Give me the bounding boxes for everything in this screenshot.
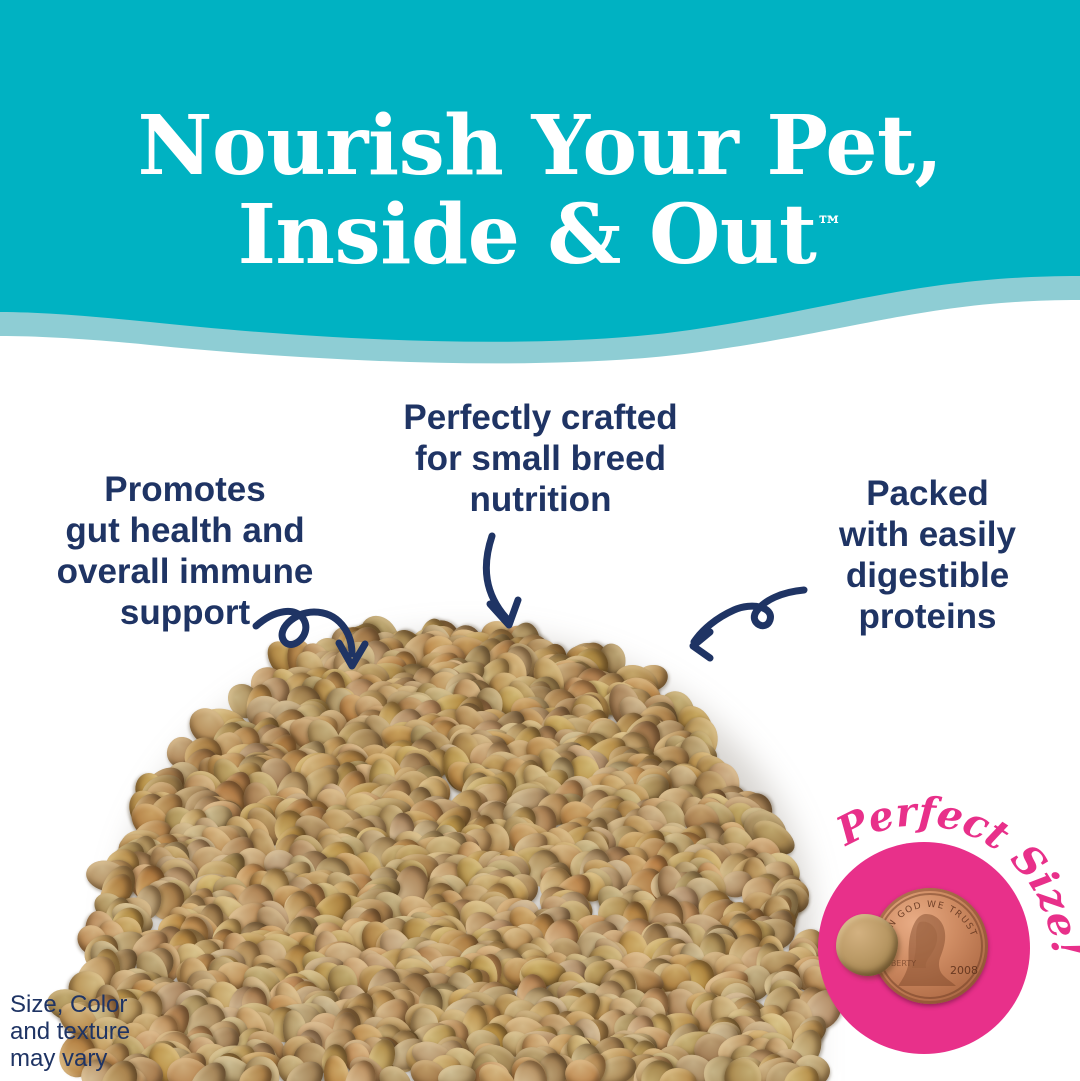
callout-right-line-1: Packed bbox=[790, 474, 1065, 515]
callout-right-line-4: proteins bbox=[790, 597, 1065, 638]
disclaimer-line-2: and texture bbox=[10, 1019, 190, 1046]
callout-mid-line-1: Perfectly crafted bbox=[368, 398, 713, 439]
callout-left-line-4: support bbox=[10, 593, 360, 634]
header-banner bbox=[0, 0, 1080, 372]
disclaimer-text: Size, Color and texture may vary bbox=[10, 992, 190, 1073]
callout-left-line-3: overall immune bbox=[10, 552, 360, 593]
callout-right-line-2: with easily bbox=[790, 515, 1065, 556]
badge-kibble-piece bbox=[836, 914, 898, 976]
disclaimer-line-1: Size, Color bbox=[10, 992, 190, 1019]
promo-panel: Nourish Your Pet, Inside & Out™ Promotes… bbox=[0, 0, 1080, 1081]
disclaimer-line-3: may vary bbox=[10, 1046, 190, 1073]
callout-digestible-proteins: Packed with easily digestible proteins bbox=[790, 474, 1065, 638]
svg-text:2008: 2008 bbox=[950, 964, 978, 977]
callout-gut-health: Promotes gut health and overall immune s… bbox=[10, 470, 360, 634]
perfect-size-badge: Perfect Size! IN GOD WE TRUST 2008 LIBER… bbox=[808, 776, 1080, 1048]
callout-small-breed: Perfectly crafted for small breed nutrit… bbox=[368, 398, 713, 521]
callout-right-line-3: digestible bbox=[790, 556, 1065, 597]
callout-mid-line-2: for small breed bbox=[368, 439, 713, 480]
callout-left-line-1: Promotes bbox=[10, 470, 360, 511]
callout-mid-line-3: nutrition bbox=[368, 480, 713, 521]
callout-left-line-2: gut health and bbox=[10, 511, 360, 552]
banner-wave-shape bbox=[0, 0, 1080, 372]
